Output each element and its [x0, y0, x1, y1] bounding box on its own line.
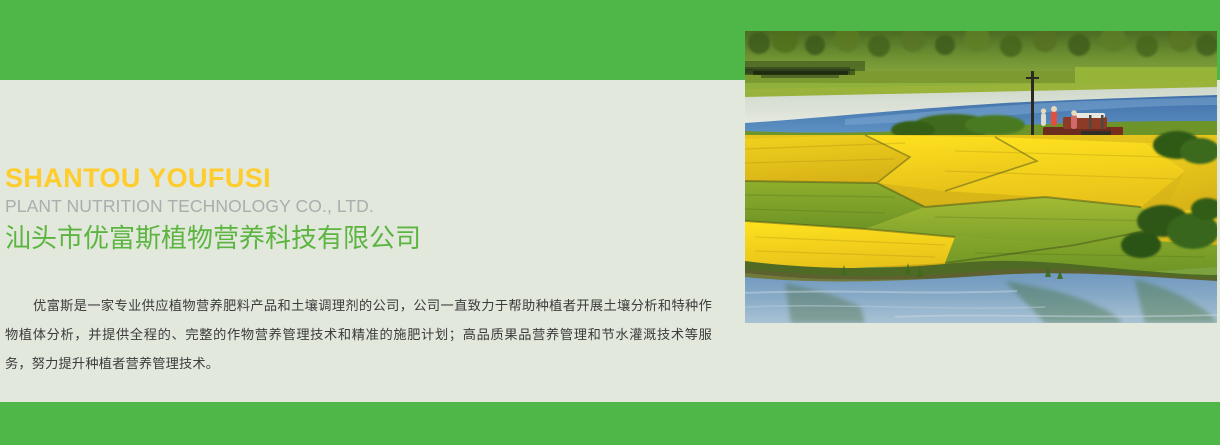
company-name-english: SHANTOU YOUFUSI	[5, 165, 271, 192]
about-paragraph: 优富斯是一家专业供应植物营养肥料产品和土壤调理剂的公司，公司一直致力于帮助种植者…	[5, 292, 712, 379]
page-root: SHANTOU YOUFUSI PLANT NUTRITION TECHNOLO…	[0, 0, 1220, 445]
company-tagline-english: PLANT NUTRITION TECHNOLOGY CO., LTD.	[5, 198, 374, 216]
bottom-green-band	[0, 402, 1220, 445]
left-content-column: SHANTOU YOUFUSI PLANT NUTRITION TECHNOLO…	[0, 80, 740, 402]
company-name-chinese: 汕头市优富斯植物营养科技有限公司	[5, 223, 421, 257]
hero-photo	[745, 31, 1217, 323]
